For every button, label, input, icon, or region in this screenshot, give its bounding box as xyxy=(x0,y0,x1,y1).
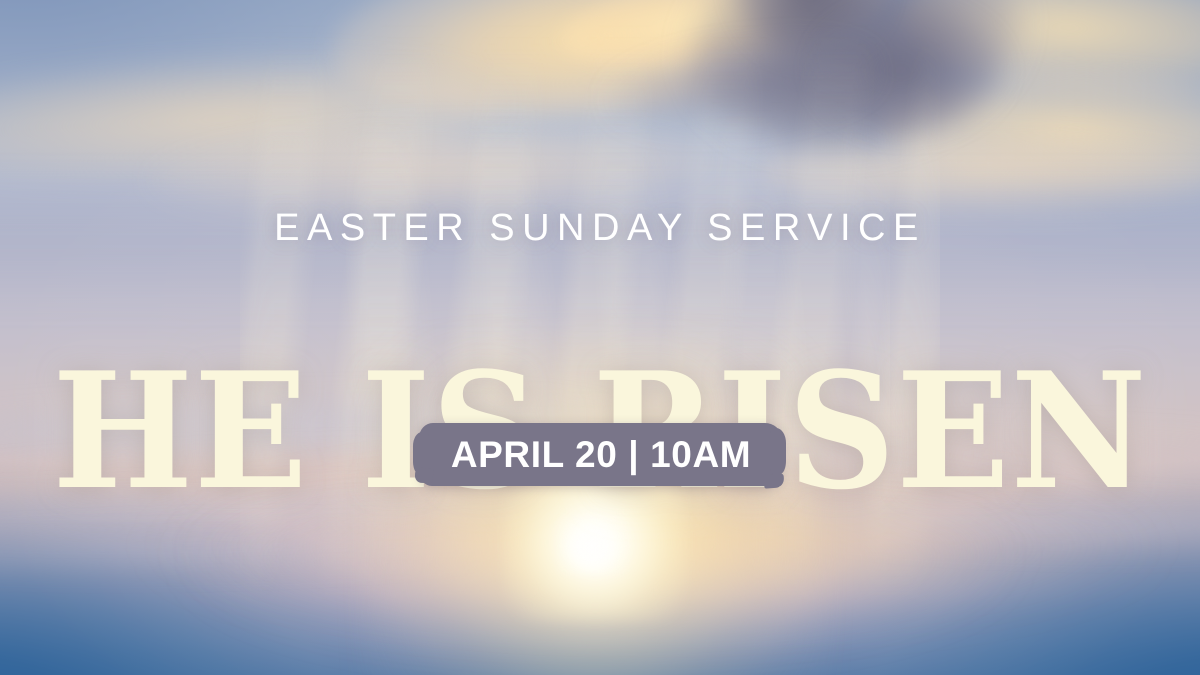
easter-service-poster: EASTER SUNDAY SERVICE HE IS RISEN APRIL … xyxy=(0,0,1200,675)
brush-chip-right xyxy=(764,473,785,488)
service-subtitle: EASTER SUNDAY SERVICE xyxy=(0,206,1200,250)
service-date-time: APRIL 20 | 10AM xyxy=(451,436,751,473)
date-banner: APRIL 20 | 10AM xyxy=(419,423,781,486)
brush-chip-left xyxy=(414,467,433,483)
poster-content: EASTER SUNDAY SERVICE HE IS RISEN APRIL … xyxy=(0,0,1200,675)
date-banner-container: APRIL 20 | 10AM xyxy=(0,421,1200,487)
